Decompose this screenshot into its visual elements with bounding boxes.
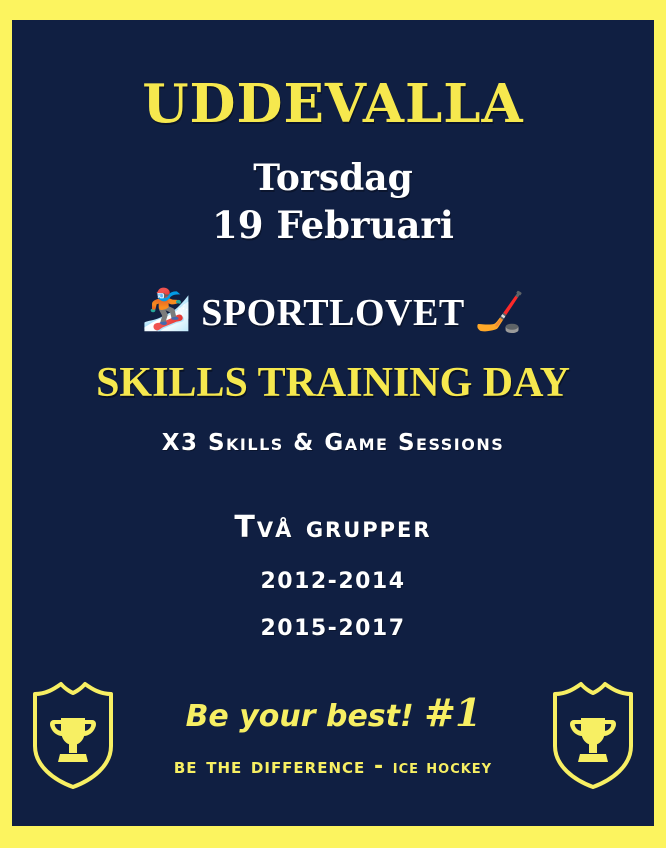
slogan-block: Be your best! #1 Be the difference - Ice… bbox=[132, 680, 534, 778]
snowboarder-icon: 🏂 bbox=[141, 290, 191, 330]
group-year-range: 2012-2014 bbox=[12, 543, 654, 593]
holiday-row: 🏂 SPORTLOVET 🏒 bbox=[12, 246, 654, 336]
groups-heading: Två grupper bbox=[12, 455, 654, 543]
group-year-range: 2015-2017 bbox=[12, 593, 654, 640]
poster-frame: UDDEVALLA Torsdag 19 Februari 🏂 SPORTLOV… bbox=[0, 0, 666, 848]
club-tagline: Be the difference - Ice hockey bbox=[132, 732, 534, 778]
tagline-main: Be the difference - bbox=[174, 754, 393, 779]
hockey-stick-icon: 🏒 bbox=[475, 292, 525, 332]
event-title: SKILLS TRAINING DAY bbox=[12, 336, 654, 404]
tagline-sub: Ice hockey bbox=[393, 757, 492, 778]
sessions-subtitle: X3 Skills & Game Sessions bbox=[12, 404, 654, 455]
holiday-label: SPORTLOVET bbox=[201, 294, 464, 332]
trophy-shield-icon bbox=[30, 680, 116, 790]
footer-band: Be your best! #1 Be the difference - Ice… bbox=[12, 680, 654, 800]
event-date: 19 Februari bbox=[12, 199, 654, 246]
rank-badge: #1 bbox=[424, 690, 480, 735]
event-weekday: Torsdag bbox=[12, 131, 654, 199]
slogan-text: Be your best! #1 bbox=[132, 680, 534, 732]
slogan-phrase: Be your best! bbox=[186, 699, 414, 734]
poster-panel: UDDEVALLA Torsdag 19 Februari 🏂 SPORTLOV… bbox=[12, 20, 654, 826]
page-title: UDDEVALLA bbox=[12, 20, 654, 131]
trophy-shield-icon bbox=[550, 680, 636, 790]
